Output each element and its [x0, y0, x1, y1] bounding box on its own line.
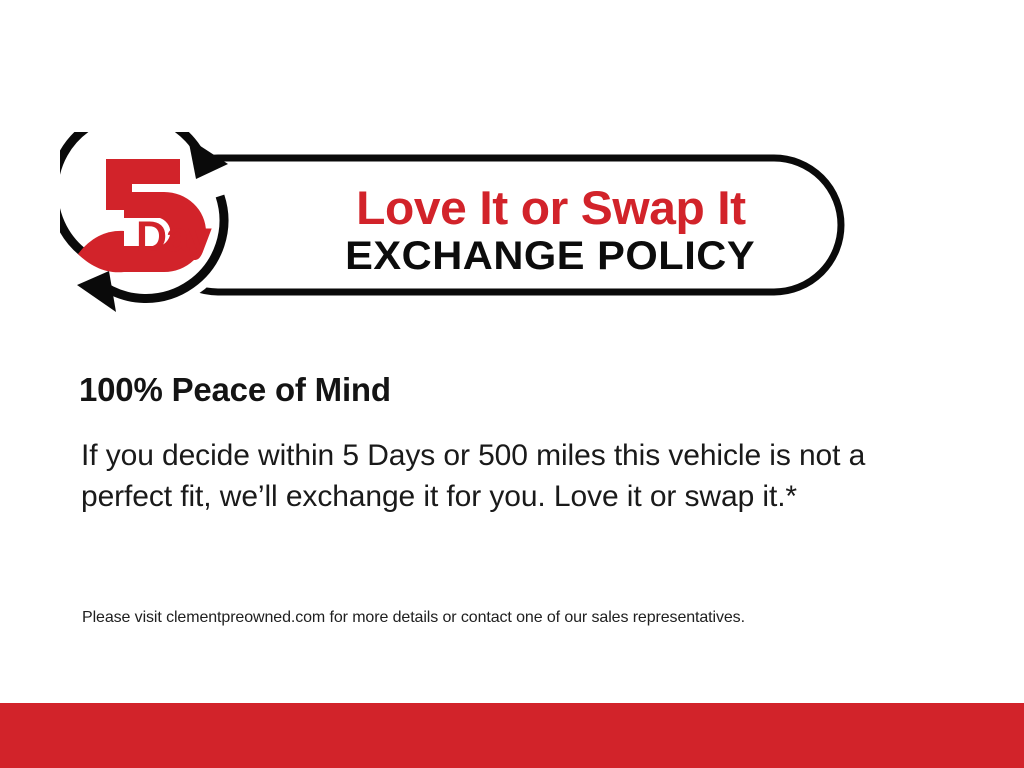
- fine-print-disclaimer: Please visit clementpreowned.com for mor…: [82, 609, 745, 627]
- promo-slide: Day Love It or Swap It EXCHANGE POLICY 1…: [0, 0, 1024, 768]
- banner-text-block: Love It or Swap It EXCHANGE POLICY: [278, 176, 823, 286]
- banner-headline-primary: Love It or Swap It: [356, 185, 746, 231]
- footer-red-band: [0, 703, 1024, 768]
- badge-unit-label: Day: [136, 216, 210, 259]
- peace-of-mind-subhead: 100% Peace of Mind: [79, 371, 391, 409]
- banner-headline-secondary: EXCHANGE POLICY: [346, 235, 756, 277]
- policy-description: If you decide within 5 Days or 500 miles…: [81, 435, 871, 517]
- exchange-policy-badge: Day Love It or Swap It EXCHANGE POLICY: [60, 132, 850, 318]
